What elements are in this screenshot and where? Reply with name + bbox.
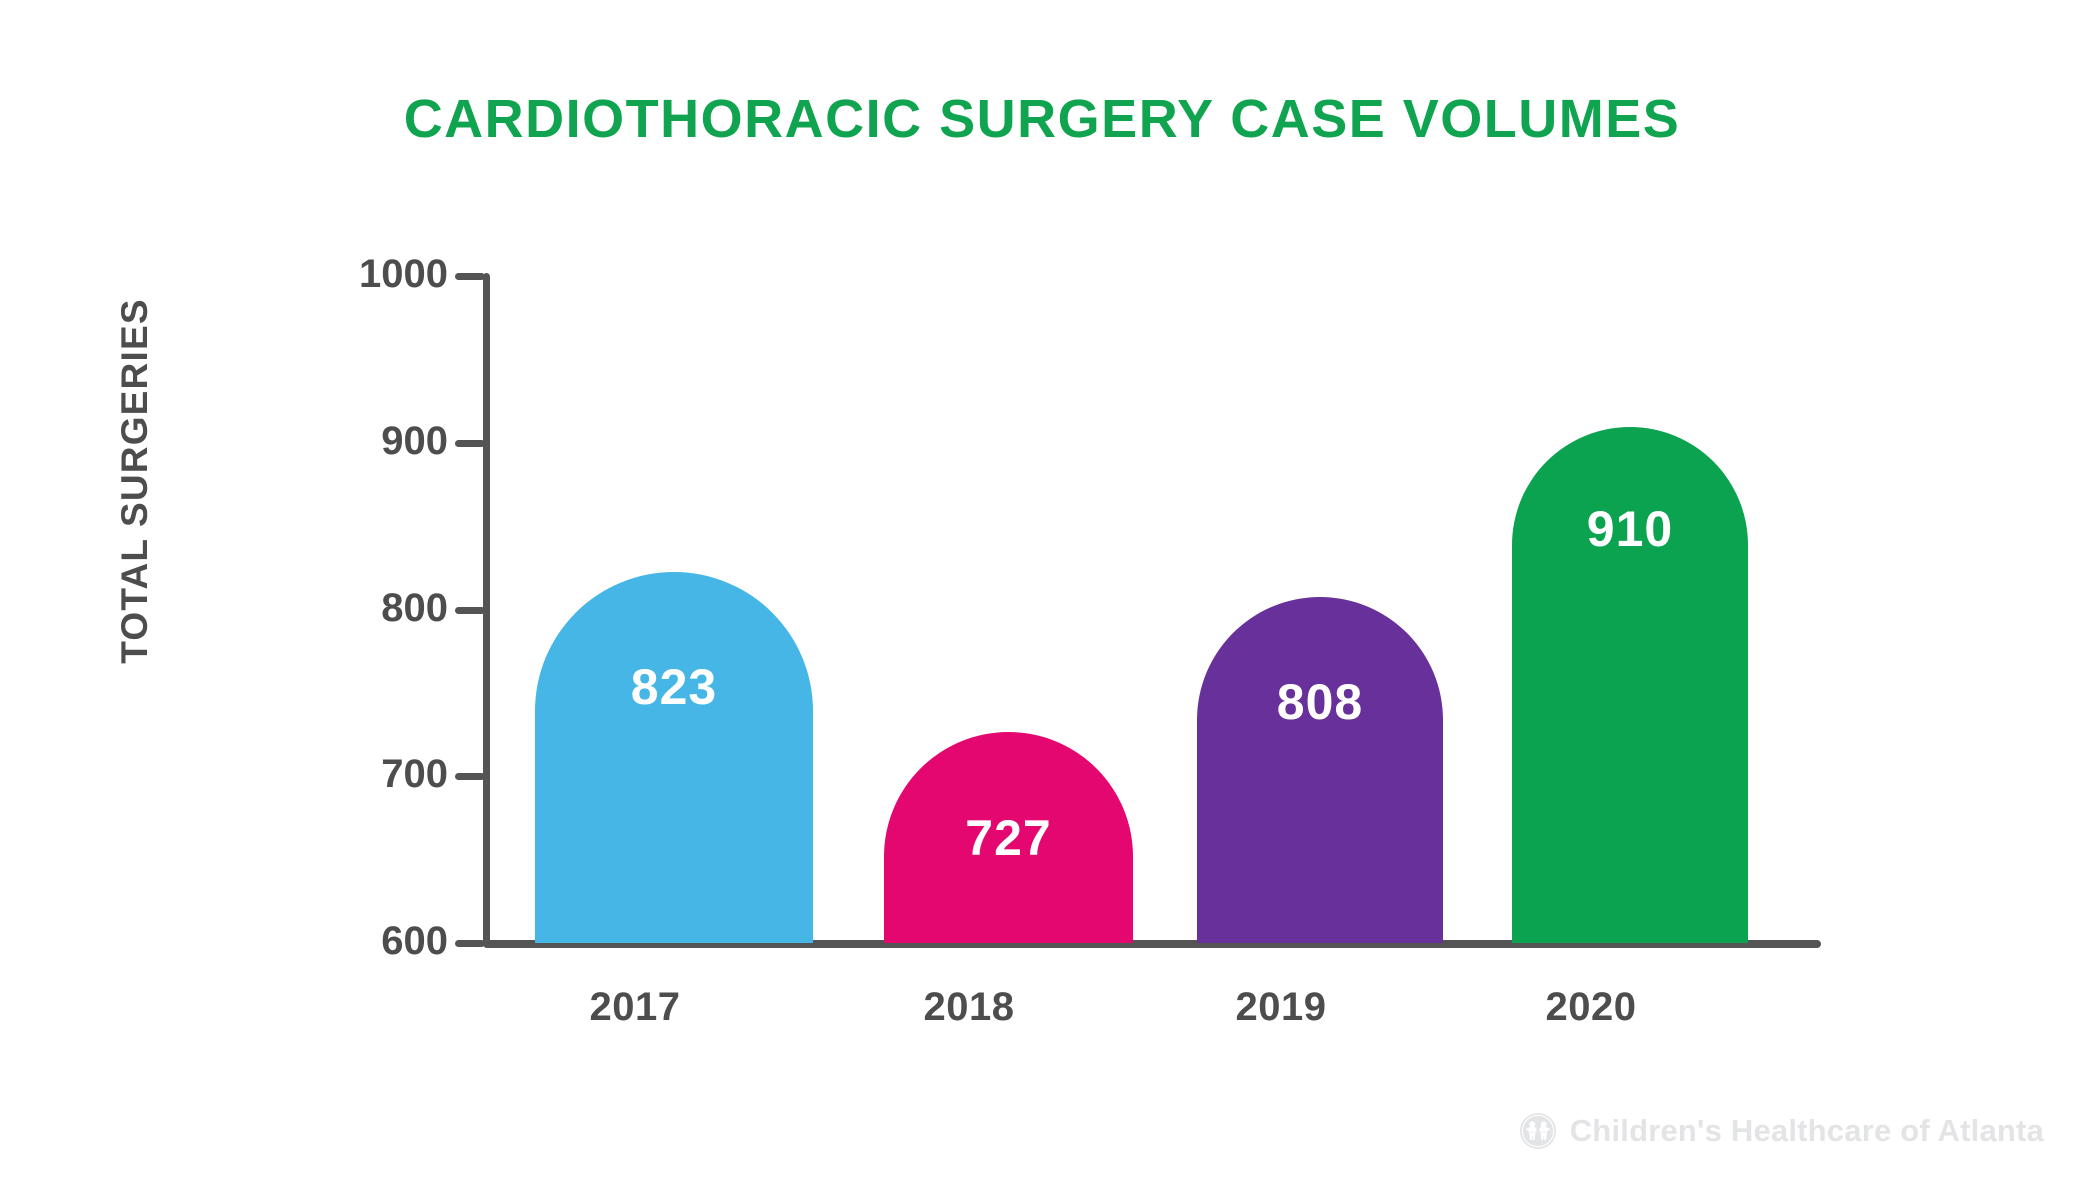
y-tick-mark-700 (455, 773, 485, 780)
bar-shape-2017 (535, 572, 813, 943)
y-tick-label-700: 700 (381, 752, 448, 796)
bar-2017[interactable]: 823 (535, 572, 813, 943)
x-tick-label-2018: 2018 (844, 985, 1094, 1030)
y-tick-label-1000: 1000 (359, 252, 448, 296)
brand-name: Children's Healthcare of Atlanta (1570, 1113, 2044, 1149)
x-tick-label-2020: 2020 (1472, 985, 1710, 1030)
bar-shape-2019 (1197, 597, 1443, 943)
chart-title: CARDIOTHORACIC SURGERY CASE VOLUMES (0, 88, 2084, 150)
y-tick-mark-900 (455, 440, 485, 447)
bar-value-label-2017: 823 (535, 658, 813, 716)
chart-page: CARDIOTHORACIC SURGERY CASE VOLUMES TOTA… (0, 0, 2084, 1184)
bar-value-label-2019: 808 (1197, 673, 1443, 731)
y-tick-label-800-wrap: 800 (300, 586, 448, 631)
bar-2020[interactable]: 910 (1512, 427, 1748, 943)
y-tick-label-600: 600 (381, 919, 448, 963)
x-tick-label-2017: 2017 (495, 985, 775, 1030)
y-tick-mark-800 (455, 607, 485, 614)
y-tick-label-600-wrap: 600 (300, 919, 448, 964)
y-tick-mark-1000 (455, 273, 485, 280)
y-tick-label-1000-wrap: 1000 (300, 252, 448, 297)
plot-area: 823 727 808 910 (483, 277, 1818, 943)
bar-2019[interactable]: 808 (1197, 597, 1443, 943)
bar-2018[interactable]: 727 (884, 732, 1133, 943)
children-logo-icon (1519, 1112, 1557, 1150)
bar-value-label-2018: 727 (884, 809, 1133, 867)
y-tick-label-900-wrap: 900 (300, 419, 448, 464)
x-tick-label-2019: 2019 (1157, 985, 1405, 1030)
y-tick-label-700-wrap: 700 (300, 752, 448, 797)
y-tick-mark-600 (455, 940, 485, 947)
y-tick-label-900: 900 (381, 419, 448, 463)
y-tick-label-800: 800 (381, 586, 448, 630)
bar-value-label-2020: 910 (1512, 500, 1748, 558)
brand-footer: Children's Healthcare of Atlanta (1519, 1112, 2044, 1150)
y-axis-title: TOTAL SURGERIES (114, 271, 156, 691)
